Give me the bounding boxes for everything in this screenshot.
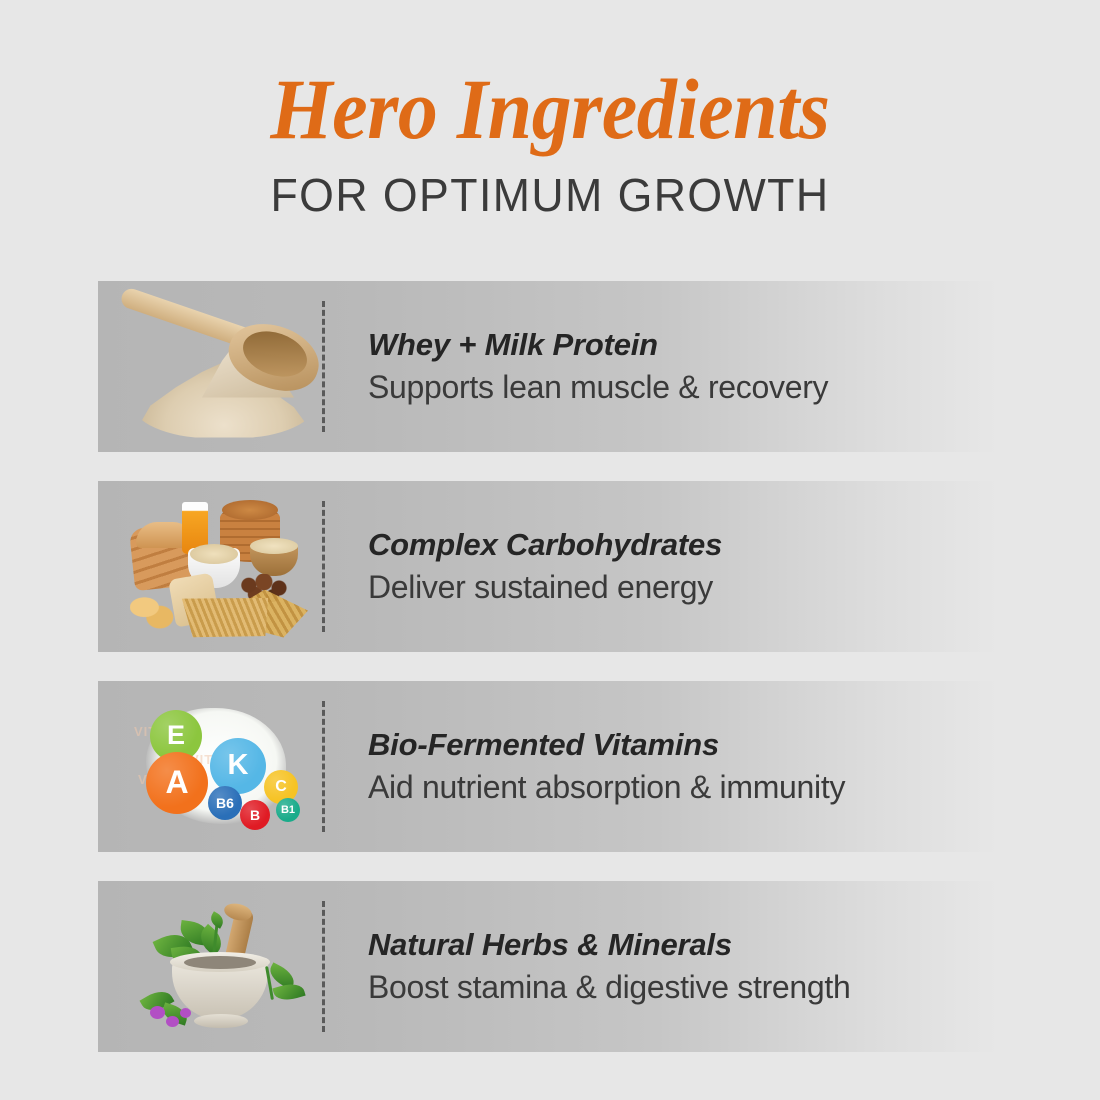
ingredient-row: VITAMINVITAMINVITAMIN EKAB6CBB1 Bio-Ferm… [98, 681, 998, 852]
ingredient-title: Whey + Milk Protein [368, 327, 998, 363]
row-divider [322, 901, 325, 1032]
vitamin-bubble-k: K [210, 738, 266, 794]
ingredient-title: Bio-Fermented Vitamins [368, 727, 998, 763]
vitamin-bubble-b6: B6 [208, 786, 242, 820]
ingredient-row: Complex Carbohydrates Deliver sustained … [98, 481, 998, 652]
row-text: Whey + Milk Protein Supports lean muscle… [368, 327, 998, 406]
mortar-pestle-herbs-icon [110, 892, 325, 1042]
row-divider [322, 701, 325, 832]
page-header: Hero Ingredients FOR OPTIMUM GROWTH [0, 0, 1100, 222]
hero-ingredients-page: Hero Ingredients FOR OPTIMUM GROWTH Whey… [0, 0, 1100, 1100]
ingredient-subtitle: Deliver sustained energy [368, 569, 998, 606]
vitamin-bubbles-icon: VITAMINVITAMINVITAMIN EKAB6CBB1 [110, 692, 325, 842]
protein-scoop-icon [110, 292, 325, 442]
ingredient-title: Natural Herbs & Minerals [368, 927, 998, 963]
ingredient-subtitle: Supports lean muscle & recovery [368, 369, 998, 406]
ingredient-subtitle: Aid nutrient absorption & immunity [368, 769, 998, 806]
carbohydrate-foods-icon [110, 492, 325, 642]
page-title: Hero Ingredients [39, 66, 1062, 152]
ingredient-title: Complex Carbohydrates [368, 527, 998, 563]
ingredient-row: Whey + Milk Protein Supports lean muscle… [98, 281, 998, 452]
row-divider [322, 301, 325, 432]
vitamin-bubble-b: B [240, 800, 270, 830]
row-text: Natural Herbs & Minerals Boost stamina &… [368, 927, 998, 1006]
row-text: Bio-Fermented Vitamins Aid nutrient abso… [368, 727, 998, 806]
vitamin-bubble-a: A [146, 752, 208, 814]
ingredient-subtitle: Boost stamina & digestive strength [368, 969, 998, 1006]
vitamin-bubble-b1: B1 [276, 798, 300, 822]
ingredient-list: Whey + Milk Protein Supports lean muscle… [98, 281, 998, 1081]
row-text: Complex Carbohydrates Deliver sustained … [368, 527, 998, 606]
ingredient-row: Natural Herbs & Minerals Boost stamina &… [98, 881, 998, 1052]
row-divider [322, 501, 325, 632]
page-subtitle: FOR OPTIMUM GROWTH [17, 168, 1084, 222]
